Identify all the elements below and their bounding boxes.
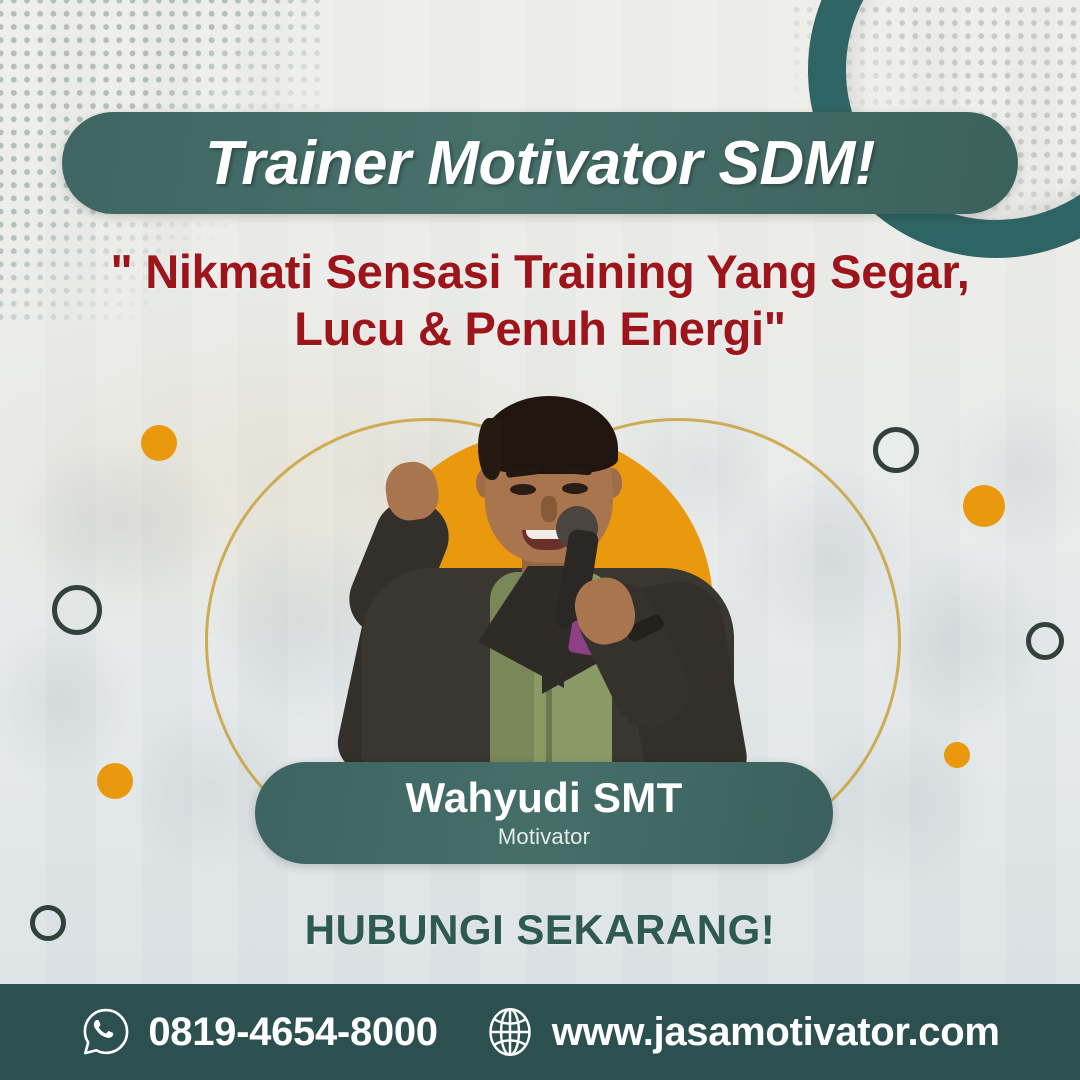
phone-contact[interactable]: 0819-4654-8000	[80, 1006, 437, 1058]
phone-number: 0819-4654-8000	[148, 1010, 437, 1055]
promotional-poster: Trainer Motivator SDM! " Nikmati Sensasi…	[0, 0, 1080, 1080]
title-banner: Trainer Motivator SDM!	[62, 112, 1018, 214]
page-title: Trainer Motivator SDM!	[205, 128, 875, 199]
whatsapp-phone-icon	[80, 1006, 132, 1058]
subtitle-line-1: " Nikmati Sensasi Training Yang Segar,	[0, 244, 1080, 301]
subtitle-quote: " Nikmati Sensasi Training Yang Segar, L…	[0, 244, 1080, 358]
speaker-role: Motivator	[498, 824, 590, 850]
call-to-action-text: HUBUNGI SEKARANG!	[0, 906, 1080, 954]
globe-icon	[484, 1006, 536, 1058]
speaker-name-badge: Wahyudi SMT Motivator	[255, 762, 833, 864]
speaker-name: Wahyudi SMT	[405, 776, 682, 820]
subtitle-line-2: Lucu & Penuh Energi"	[0, 301, 1080, 358]
contact-footer-bar: 0819-4654-8000 www.jasamotivator.com	[0, 984, 1080, 1080]
website-url: www.jasamotivator.com	[552, 1010, 1000, 1055]
website-contact[interactable]: www.jasamotivator.com	[484, 1006, 1000, 1058]
